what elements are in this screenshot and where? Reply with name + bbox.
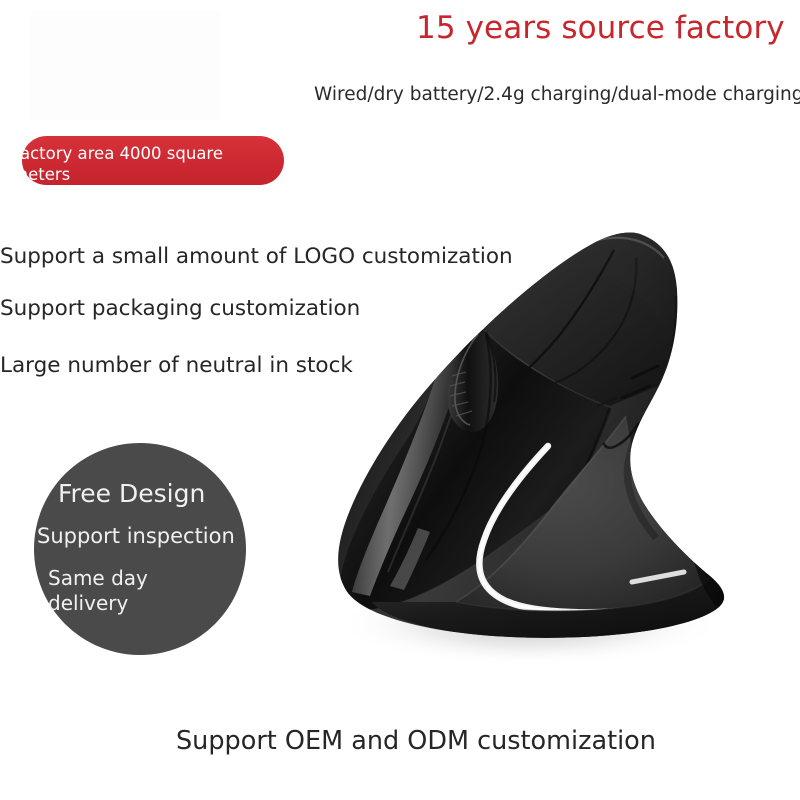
product-image-vertical-mouse — [280, 210, 760, 690]
services-free-design-label: Free Design — [58, 478, 205, 510]
subheadline: Wired/dry battery/2.4g charging/dual-mod… — [314, 82, 784, 108]
background-panel — [30, 10, 220, 120]
oem-odm-caption: Support OEM and ODM customization — [176, 724, 656, 758]
services-support-inspection-label: Support inspection — [37, 522, 235, 550]
feature-line-neutral-stock: Large number of neutral in stock — [0, 352, 353, 380]
feature-line-packaging-customization: Support packaging customization — [0, 295, 360, 323]
factory-area-badge-label: Factory area 4000 square meters — [12, 139, 242, 185]
services-same-day-delivery-label: Same day delivery — [48, 566, 168, 616]
mouse-body — [338, 210, 750, 639]
product-banner: 15 years source factory Wired/dry batter… — [0, 0, 800, 800]
headline: 15 years source factory — [416, 8, 796, 48]
feature-line-logo-customization: Support a small amount of LOGO customiza… — [0, 243, 513, 271]
